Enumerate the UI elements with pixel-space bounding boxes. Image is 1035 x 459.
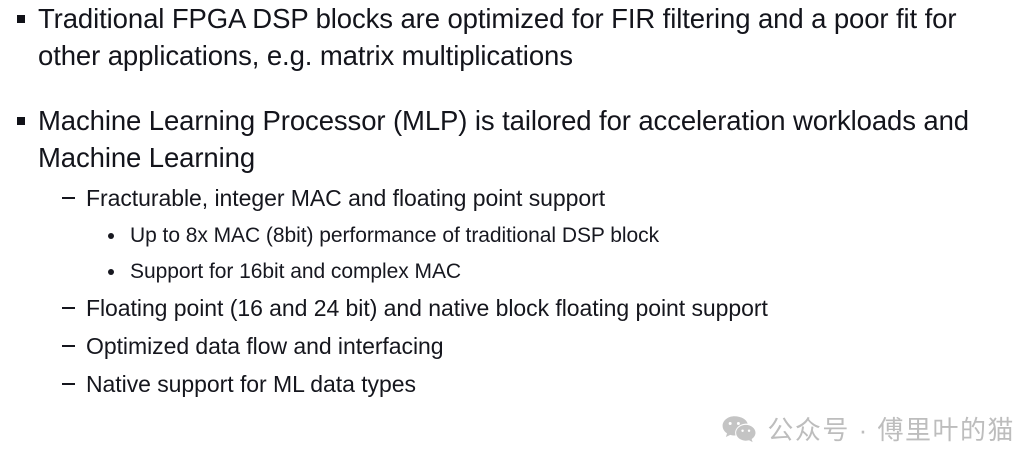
dot-bullet-icon: [108, 269, 114, 275]
dash-bullet-icon: [62, 197, 75, 199]
bullet-line: Machine Learning: [38, 139, 1035, 176]
bullet-item-floating-point: Floating point (16 and 24 bit) and nativ…: [0, 293, 1035, 324]
dash-bullet-icon: [62, 307, 75, 309]
dash-bullet-icon: [62, 383, 75, 385]
paragraph-spacer: [0, 250, 1035, 257]
bullet-item-fracturable: Fracturable, integer MAC and floating po…: [0, 183, 1035, 214]
bullet-item-traditional-fpga: Traditional FPGA DSP blocks are optimize…: [0, 0, 1035, 74]
bullet-text: Support for 16bit and complex MAC: [130, 260, 461, 283]
bullet-text: Fracturable, integer MAC and floating po…: [86, 185, 605, 211]
slide-content: Traditional FPGA DSP blocks are optimize…: [0, 0, 1035, 459]
bullet-item-support-16bit: Support for 16bit and complex MAC: [0, 257, 1035, 286]
bullet-text: Native support for ML data types: [86, 371, 416, 397]
bullet-line: Traditional FPGA DSP blocks are optimize…: [38, 0, 1035, 37]
bullet-list: Traditional FPGA DSP blocks are optimize…: [0, 0, 1035, 400]
square-bullet-icon: [17, 15, 25, 23]
square-bullet-icon: [17, 117, 25, 125]
paragraph-spacer: [0, 176, 1035, 183]
wechat-icon: [722, 415, 756, 445]
watermark-text: 公众号 · 傅里叶的猫: [767, 417, 1015, 443]
dot-bullet-icon: [108, 233, 114, 239]
bullet-item-up-to-8x-mac: Up to 8x MAC (8bit) performance of tradi…: [0, 221, 1035, 250]
bullet-line: other applications, e.g. matrix multipli…: [38, 37, 1035, 74]
paragraph-spacer: [0, 286, 1035, 293]
paragraph-spacer: [0, 74, 1035, 102]
bullet-item-native-ml-data-types: Native support for ML data types: [0, 369, 1035, 400]
bullet-item-machine-learning-processor: Machine Learning Processor (MLP) is tail…: [0, 102, 1035, 176]
dash-bullet-icon: [62, 345, 75, 347]
bullet-item-optimized-data-flow: Optimized data flow and interfacing: [0, 331, 1035, 362]
paragraph-spacer: [0, 324, 1035, 331]
watermark: 公众号 · 傅里叶的猫: [722, 415, 1015, 445]
bullet-line: Machine Learning Processor (MLP) is tail…: [38, 102, 1035, 139]
paragraph-spacer: [0, 214, 1035, 221]
bullet-text: Optimized data flow and interfacing: [86, 333, 444, 359]
bullet-text: Floating point (16 and 24 bit) and nativ…: [86, 295, 768, 321]
bullet-text: Up to 8x MAC (8bit) performance of tradi…: [130, 224, 659, 247]
paragraph-spacer: [0, 362, 1035, 369]
